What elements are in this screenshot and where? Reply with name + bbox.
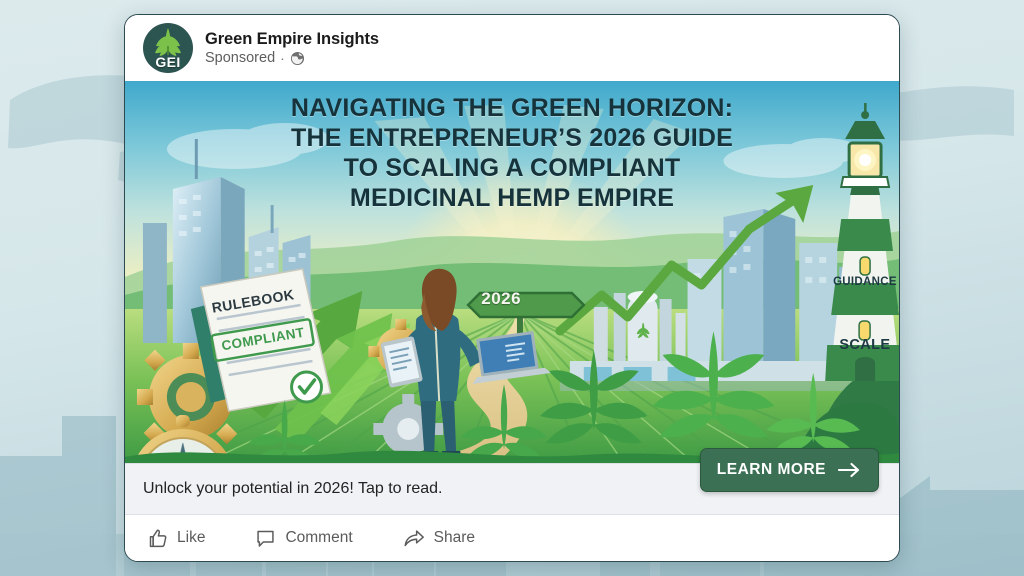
caption-text: Unlock your potential in 2026! Tap to re… bbox=[143, 480, 442, 498]
meta-separator: · bbox=[280, 51, 285, 65]
globe-icon[interactable] bbox=[290, 51, 305, 66]
caption-bar: Unlock your potential in 2026! Tap to re… bbox=[125, 463, 899, 515]
sponsored-post-card: GEI Green Empire Insights Sponsored · bbox=[124, 14, 900, 562]
share-label: Share bbox=[434, 529, 475, 547]
arrow-right-icon bbox=[838, 462, 862, 478]
share-arrow-icon bbox=[403, 528, 425, 549]
illustration-scene bbox=[125, 81, 899, 463]
avatar-initials: GEI bbox=[143, 54, 193, 70]
thumbs-up-icon bbox=[147, 528, 168, 549]
header-text: Green Empire Insights Sponsored · bbox=[205, 30, 379, 66]
like-label: Like bbox=[177, 529, 205, 547]
comment-button[interactable]: Comment bbox=[249, 524, 358, 553]
cta-label: LEARN MORE bbox=[717, 461, 826, 479]
page-backdrop: GEI Green Empire Insights Sponsored · bbox=[0, 0, 1024, 576]
post-actions: Like Comment Share bbox=[125, 515, 899, 561]
share-button[interactable]: Share bbox=[397, 524, 481, 553]
post-meta-row: Sponsored · bbox=[205, 50, 379, 66]
ad-creative-image[interactable]: NAVIGATING THE GREEN HORIZON: THE ENTREP… bbox=[125, 81, 899, 463]
speech-bubble-icon bbox=[255, 528, 276, 549]
page-name[interactable]: Green Empire Insights bbox=[205, 30, 379, 49]
avatar[interactable]: GEI bbox=[143, 23, 193, 73]
sponsored-label: Sponsored bbox=[205, 50, 275, 66]
post-header: GEI Green Empire Insights Sponsored · bbox=[125, 15, 899, 81]
comment-label: Comment bbox=[285, 529, 352, 547]
like-button[interactable]: Like bbox=[141, 524, 211, 553]
learn-more-button[interactable]: LEARN MORE bbox=[700, 448, 879, 492]
